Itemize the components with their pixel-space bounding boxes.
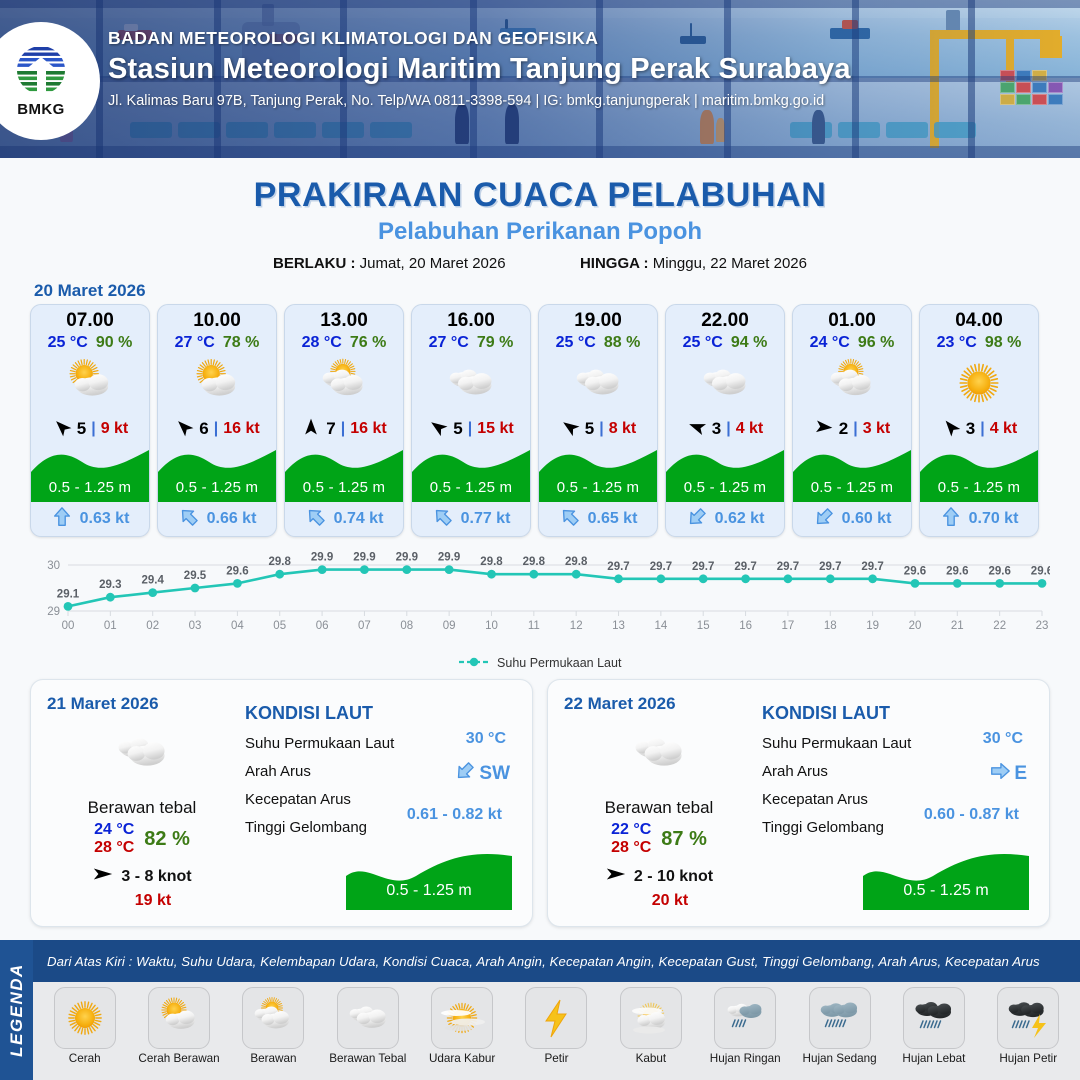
- svg-text:29.8: 29.8: [480, 556, 503, 568]
- svg-text:29: 29: [47, 606, 60, 618]
- panel-humidity: 87 %: [661, 828, 707, 851]
- panel-current-direction-icon: [454, 760, 476, 787]
- panel-current-speed-value: 0.60 - 0.87 kt: [924, 806, 1019, 824]
- card-time: 22.00: [666, 305, 784, 332]
- cerah-icon: [920, 352, 1038, 414]
- card-temperature: 25 °C: [556, 334, 596, 352]
- card-wave-height: 0.5 - 1.25 m: [666, 479, 784, 496]
- card-wind-speed: 3: [712, 419, 721, 439]
- card-gust: 3 kt: [863, 420, 891, 438]
- card-time: 13.00: [285, 305, 403, 332]
- card-wave-height: 0.5 - 1.25 m: [920, 479, 1038, 496]
- svg-text:18: 18: [824, 620, 837, 632]
- svg-text:17: 17: [782, 620, 795, 632]
- current-direction-icon: [940, 506, 962, 533]
- legend-item-label: Udara Kabur: [429, 1052, 495, 1065]
- separator: |: [214, 420, 218, 438]
- wind-direction-icon: [560, 417, 580, 442]
- forecast-card[interactable]: 19.00 25 °C 88 % 5 | 8 kt 0.5 - 1: [538, 304, 658, 537]
- legend-item-label: Hujan Sedang: [803, 1052, 877, 1065]
- card-time: 01.00: [793, 305, 911, 332]
- legend-item-label: Kabut: [636, 1052, 667, 1065]
- legend-item: Hujan Ringan: [700, 987, 791, 1065]
- card-wave: 0.5 - 1.25 m: [920, 446, 1038, 502]
- panel-wind-speed: 3 - 8 knot: [121, 868, 191, 886]
- svg-text:30: 30: [47, 560, 60, 572]
- svg-text:07: 07: [358, 620, 371, 632]
- forecast-day-label: 20 Maret 2026: [34, 281, 1080, 301]
- hujan-petir-icon: [997, 987, 1059, 1049]
- forecast-card[interactable]: 04.00 23 °C 98 % 3 | 4 kt 0.5 - 1: [919, 304, 1039, 537]
- svg-text:05: 05: [273, 620, 286, 632]
- current-direction-icon: [432, 506, 454, 533]
- wind-direction-icon: [174, 417, 194, 442]
- svg-text:10: 10: [485, 620, 498, 632]
- svg-text:22: 22: [993, 620, 1006, 632]
- card-humidity: 94 %: [731, 334, 767, 352]
- forecast-card[interactable]: 01.00 24 °C 96 % 2 | 3 kt 0.5 - 1: [792, 304, 912, 537]
- page-title: PRAKIRAAN CUACA PELABUHAN: [0, 176, 1080, 215]
- bmkg-logo-icon: [13, 44, 69, 100]
- card-gust: 16 kt: [223, 420, 259, 438]
- cerah-icon: [54, 987, 116, 1049]
- legend-item: Berawan Tebal: [322, 987, 413, 1065]
- panel-current-direction-icon: [989, 760, 1011, 787]
- card-time: 16.00: [412, 305, 530, 332]
- svg-text:29.7: 29.7: [777, 561, 799, 573]
- card-temperature: 28 °C: [302, 334, 342, 352]
- separator: |: [91, 420, 95, 438]
- card-wind-speed: 3: [966, 419, 975, 439]
- svg-text:14: 14: [655, 620, 668, 632]
- daily-summary-panel: 21 Maret 2026 Berawan tebal 24 °C 28 °C …: [30, 679, 533, 927]
- panel-temp-max: 28 °C: [94, 839, 134, 857]
- udara-kabur-icon: [431, 987, 493, 1049]
- panel-wave-height-value: 0.5 - 1.25 m: [346, 882, 512, 900]
- current-direction-icon: [813, 506, 835, 533]
- svg-text:29.7: 29.7: [734, 561, 756, 573]
- svg-text:29.9: 29.9: [438, 552, 460, 564]
- panel-date: 21 Maret 2026: [47, 694, 237, 714]
- card-wind-speed: 5: [77, 419, 86, 439]
- panel-sst-value: 30 °C: [466, 730, 506, 748]
- svg-text:23: 23: [1036, 620, 1049, 632]
- berawan-tebal-icon: [666, 352, 784, 414]
- petir-icon: [525, 987, 587, 1049]
- legend-item-label: Cerah: [69, 1052, 101, 1065]
- legend-item-label: Berawan Tebal: [329, 1052, 406, 1065]
- valid-until-value: Minggu, 22 Maret 2026: [653, 255, 807, 272]
- current-direction-icon: [686, 506, 708, 533]
- svg-text:15: 15: [697, 620, 710, 632]
- contact-info: Jl. Kalimas Baru 97B, Tanjung Perak, No.…: [108, 93, 1068, 109]
- svg-text:29.8: 29.8: [523, 556, 546, 568]
- panel-wind-speed: 2 - 10 knot: [634, 868, 713, 886]
- current-direction-icon: [305, 506, 327, 533]
- card-gust: 15 kt: [477, 420, 513, 438]
- legend-item: Hujan Petir: [983, 987, 1074, 1065]
- chart-legend-swatch: [459, 656, 489, 671]
- panel-date: 22 Maret 2026: [564, 694, 754, 714]
- legend-item-label: Hujan Lebat: [902, 1052, 965, 1065]
- panel-condition: Berawan tebal: [564, 798, 754, 818]
- card-humidity: 98 %: [985, 334, 1021, 352]
- svg-text:13: 13: [612, 620, 625, 632]
- berawan-icon: [242, 987, 304, 1049]
- svg-text:29.5: 29.5: [184, 570, 207, 582]
- legend-item: Cerah Berawan: [133, 987, 224, 1065]
- card-time: 19.00: [539, 305, 657, 332]
- card-wind-speed: 5: [453, 419, 462, 439]
- current-direction-icon: [178, 506, 200, 533]
- hujan-ringan-icon: [714, 987, 776, 1049]
- card-current-speed: 0.74 kt: [334, 510, 384, 528]
- panel-sst-value: 30 °C: [983, 730, 1023, 748]
- panel-condition: Berawan tebal: [47, 798, 237, 818]
- svg-text:29.3: 29.3: [99, 579, 121, 591]
- legend-side-label: LEGENDA: [0, 940, 33, 1080]
- svg-text:29.6: 29.6: [1031, 565, 1050, 577]
- daily-summary-panel: 22 Maret 2026 Berawan tebal 22 °C 28 °C …: [547, 679, 1050, 927]
- berawan-tebal-icon: [412, 352, 530, 414]
- card-time: 10.00: [158, 305, 276, 332]
- svg-text:21: 21: [951, 620, 964, 632]
- card-wind-speed: 6: [199, 419, 208, 439]
- svg-text:29.6: 29.6: [989, 565, 1011, 577]
- berawan-tebal-icon: [539, 352, 657, 414]
- valid-until-label: HINGGA :: [580, 255, 649, 272]
- svg-text:08: 08: [400, 620, 413, 632]
- sst-chart: 302929.10029.30129.40229.50329.60429.805…: [30, 549, 1050, 654]
- svg-text:29.4: 29.4: [142, 575, 165, 587]
- svg-text:29.1: 29.1: [57, 588, 80, 600]
- svg-text:29.8: 29.8: [269, 556, 292, 568]
- panel-wave: 0.5 - 1.25 m: [346, 846, 512, 910]
- card-current-speed: 0.77 kt: [461, 510, 511, 528]
- svg-text:29.8: 29.8: [565, 556, 588, 568]
- card-humidity: 78 %: [223, 334, 259, 352]
- panel-temp-min: 24 °C: [94, 821, 134, 839]
- legend-item-label: Hujan Ringan: [710, 1052, 781, 1065]
- page-subtitle: Pelabuhan Perikanan Popoh: [0, 218, 1080, 246]
- legend-bar: LEGENDA Dari Atas Kiri : Waktu, Suhu Uda…: [0, 940, 1080, 1080]
- panel-current-direction-value: SW: [479, 763, 510, 785]
- svg-text:09: 09: [443, 620, 456, 632]
- hujan-sedang-icon: [809, 987, 871, 1049]
- card-wave-height: 0.5 - 1.25 m: [539, 479, 657, 496]
- svg-text:11: 11: [528, 620, 540, 632]
- svg-text:16: 16: [739, 620, 752, 632]
- card-gust: 8 kt: [609, 420, 637, 438]
- svg-text:01: 01: [104, 620, 117, 632]
- berawan-icon: [285, 352, 403, 414]
- card-time: 04.00: [920, 305, 1038, 332]
- chart-legend-label: Suhu Permukaan Laut: [497, 656, 621, 670]
- current-direction-icon: [559, 506, 581, 533]
- current-direction-icon: [51, 506, 73, 533]
- svg-text:04: 04: [231, 620, 244, 632]
- panel-gust: 19 kt: [47, 892, 237, 910]
- card-wave: 0.5 - 1.25 m: [285, 446, 403, 502]
- panel-current-direction-value: E: [1014, 763, 1027, 785]
- berawan-tebal-icon: [564, 722, 754, 784]
- cerah-berawan-icon: [31, 352, 149, 414]
- panel-temp-min: 22 °C: [611, 821, 651, 839]
- panel-gust: 20 kt: [564, 892, 754, 910]
- card-temperature: 23 °C: [937, 334, 977, 352]
- card-current-speed: 0.66 kt: [207, 510, 257, 528]
- agency-name: BADAN METEOROLOGI KLIMATOLOGI DAN GEOFIS…: [108, 28, 1068, 49]
- card-gust: 9 kt: [101, 420, 129, 438]
- forecast-card[interactable]: 07.00 25 °C 90 % 5 | 9 kt 0.5 - 1: [30, 304, 150, 537]
- card-gust: 16 kt: [350, 420, 386, 438]
- page-header: BMKG BADAN METEOROLOGI KLIMATOLOGI DAN G…: [0, 0, 1080, 158]
- wind-direction-icon: [428, 417, 448, 442]
- forecast-card[interactable]: 16.00 27 °C 79 % 5 | 15 kt 0.5 -: [411, 304, 531, 537]
- bmkg-logo-text: BMKG: [17, 101, 64, 118]
- card-temperature: 25 °C: [48, 334, 88, 352]
- svg-text:03: 03: [189, 620, 202, 632]
- card-current-speed: 0.70 kt: [969, 510, 1019, 528]
- svg-text:06: 06: [316, 620, 329, 632]
- card-wind-speed: 7: [326, 419, 335, 439]
- legend-item-label: Cerah Berawan: [138, 1052, 219, 1065]
- cerah-berawan-icon: [148, 987, 210, 1049]
- card-current-speed: 0.65 kt: [588, 510, 638, 528]
- forecast-card[interactable]: 13.00 28 °C 76 % 7 | 16 kt 0.5 -: [284, 304, 404, 537]
- wind-direction-icon: [687, 417, 707, 442]
- card-humidity: 76 %: [350, 334, 386, 352]
- separator: |: [726, 420, 730, 438]
- card-wave-height: 0.5 - 1.25 m: [285, 479, 403, 496]
- card-wave: 0.5 - 1.25 m: [158, 446, 276, 502]
- card-gust: 4 kt: [736, 420, 764, 438]
- svg-text:29.9: 29.9: [311, 552, 333, 564]
- wind-direction-icon: [814, 417, 834, 442]
- card-wave-height: 0.5 - 1.25 m: [31, 479, 149, 496]
- svg-text:02: 02: [146, 620, 159, 632]
- svg-text:29.9: 29.9: [353, 552, 375, 564]
- legend-item: Berawan: [228, 987, 319, 1065]
- card-current-speed: 0.60 kt: [842, 510, 892, 528]
- card-temperature: 27 °C: [429, 334, 469, 352]
- card-temperature: 27 °C: [175, 334, 215, 352]
- wind-direction-icon: [301, 417, 321, 442]
- svg-text:29.7: 29.7: [819, 561, 841, 573]
- forecast-card[interactable]: 22.00 25 °C 94 % 3 | 4 kt 0.5 - 1: [665, 304, 785, 537]
- legend-item-label: Hujan Petir: [999, 1052, 1057, 1065]
- legend-item: Udara Kabur: [416, 987, 507, 1065]
- svg-text:29.7: 29.7: [607, 561, 629, 573]
- card-wave-height: 0.5 - 1.25 m: [793, 479, 911, 496]
- kabut-icon: [620, 987, 682, 1049]
- valid-from-label: BERLAKU :: [273, 255, 356, 272]
- wind-direction-icon: [52, 417, 72, 442]
- svg-text:19: 19: [866, 620, 879, 632]
- legend-item: Hujan Sedang: [794, 987, 885, 1065]
- card-humidity: 88 %: [604, 334, 640, 352]
- panel-temp-max: 28 °C: [611, 839, 651, 857]
- card-wave: 0.5 - 1.25 m: [666, 446, 784, 502]
- panel-wind-direction-icon: [92, 865, 114, 888]
- card-time: 07.00: [31, 305, 149, 332]
- sea-condition-heading: KONDISI LAUT: [762, 703, 1033, 724]
- cerah-berawan-icon: [158, 352, 276, 414]
- chart-legend: Suhu Permukaan Laut: [0, 656, 1080, 671]
- card-wave: 0.5 - 1.25 m: [31, 446, 149, 502]
- svg-text:29.7: 29.7: [692, 561, 714, 573]
- legend-icon-list: Cerah Cerah Berawan: [33, 982, 1080, 1080]
- card-humidity: 96 %: [858, 334, 894, 352]
- station-name: Stasiun Meteorologi Maritim Tanjung Pera…: [108, 53, 1068, 86]
- legend-item: Kabut: [605, 987, 696, 1065]
- separator: |: [599, 420, 603, 438]
- svg-text:29.7: 29.7: [861, 561, 883, 573]
- card-wind-speed: 2: [839, 419, 848, 439]
- card-current-speed: 0.63 kt: [80, 510, 130, 528]
- berawan-tebal-icon: [337, 987, 399, 1049]
- card-humidity: 79 %: [477, 334, 513, 352]
- card-wave-height: 0.5 - 1.25 m: [158, 479, 276, 496]
- separator: |: [468, 420, 472, 438]
- card-temperature: 25 °C: [683, 334, 723, 352]
- sea-condition-heading: KONDISI LAUT: [245, 703, 516, 724]
- forecast-card[interactable]: 10.00 27 °C 78 % 6 | 16 kt 0.5 -: [157, 304, 277, 537]
- legend-item-label: Berawan: [250, 1052, 296, 1065]
- panel-wind-direction-icon: [605, 865, 627, 888]
- legend-item: Hujan Lebat: [888, 987, 979, 1065]
- valid-from-value: Jumat, 20 Maret 2026: [360, 255, 506, 272]
- svg-text:00: 00: [62, 620, 75, 632]
- separator: |: [853, 420, 857, 438]
- berawan-tebal-icon: [47, 722, 237, 784]
- daily-summary-panels: 21 Maret 2026 Berawan tebal 24 °C 28 °C …: [0, 671, 1080, 927]
- svg-text:29.9: 29.9: [396, 552, 418, 564]
- panel-wave-height-value: 0.5 - 1.25 m: [863, 882, 1029, 900]
- separator: |: [980, 420, 984, 438]
- berawan-icon: [793, 352, 911, 414]
- legend-item: Petir: [511, 987, 602, 1065]
- card-wind-speed: 5: [585, 419, 594, 439]
- legend-item-label: Petir: [544, 1052, 568, 1065]
- card-current-speed: 0.62 kt: [715, 510, 765, 528]
- legend-item: Cerah: [39, 987, 130, 1065]
- card-temperature: 24 °C: [810, 334, 850, 352]
- svg-text:29.6: 29.6: [226, 565, 248, 577]
- separator: |: [341, 420, 345, 438]
- panel-current-speed-value: 0.61 - 0.82 kt: [407, 806, 502, 824]
- svg-text:20: 20: [909, 620, 922, 632]
- svg-text:29.7: 29.7: [650, 561, 672, 573]
- card-wave-height: 0.5 - 1.25 m: [412, 479, 530, 496]
- forecast-card-row: 07.00 25 °C 90 % 5 | 9 kt 0.5 - 1: [0, 304, 1080, 537]
- title-block: PRAKIRAAN CUACA PELABUHAN Pelabuhan Peri…: [0, 176, 1080, 272]
- card-wave: 0.5 - 1.25 m: [793, 446, 911, 502]
- legend-note: Dari Atas Kiri : Waktu, Suhu Udara, Kele…: [33, 940, 1080, 982]
- validity-line: BERLAKU : Jumat, 20 Maret 2026 HINGGA : …: [0, 255, 1080, 272]
- panel-humidity: 82 %: [144, 828, 190, 851]
- svg-text:29.6: 29.6: [946, 565, 968, 577]
- svg-text:29.6: 29.6: [904, 565, 926, 577]
- card-wave: 0.5 - 1.25 m: [412, 446, 530, 502]
- card-wave: 0.5 - 1.25 m: [539, 446, 657, 502]
- card-humidity: 90 %: [96, 334, 132, 352]
- wind-direction-icon: [941, 417, 961, 442]
- hujan-lebat-icon: [903, 987, 965, 1049]
- svg-text:12: 12: [570, 620, 583, 632]
- panel-wave: 0.5 - 1.25 m: [863, 846, 1029, 910]
- card-gust: 4 kt: [990, 420, 1018, 438]
